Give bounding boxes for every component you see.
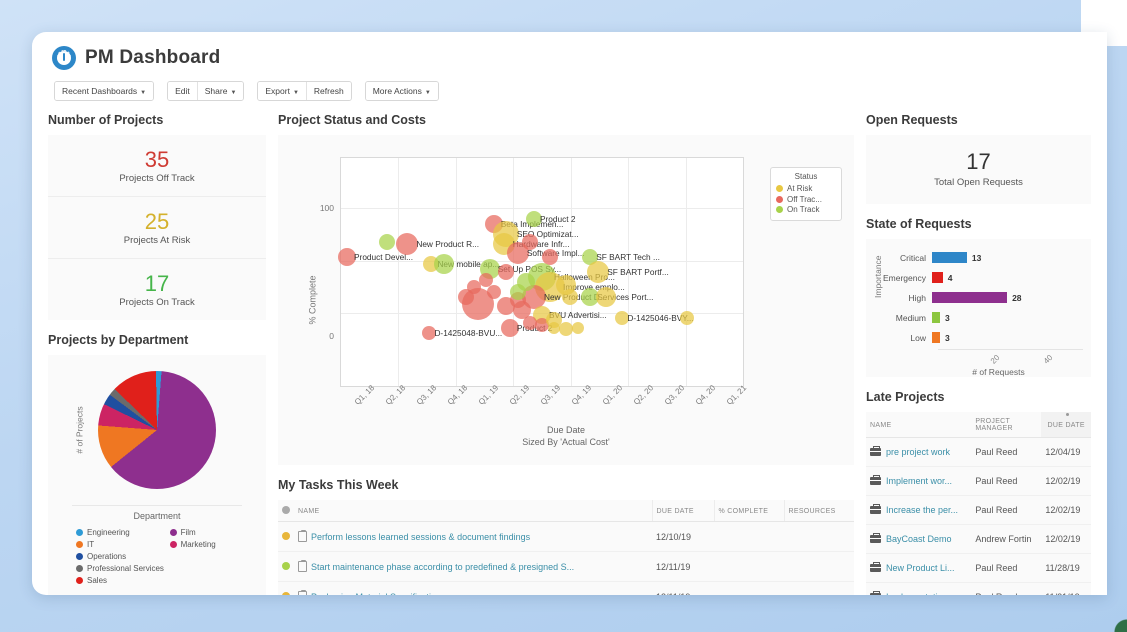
legend-color-dot [76,577,83,584]
legend-label: Operations [87,552,126,561]
recent-dashboards-button[interactable]: Recent Dashboards▼ [55,82,153,100]
scatter-bubble[interactable] [487,285,501,299]
dashboard-header: PM Dashboard Recent Dashboards▼ Edit Sha… [32,32,1107,101]
bar-fill[interactable] [932,292,1007,303]
projects-by-department-panel: Projects by Department # of Projects Dep… [48,333,266,595]
legend-label: Film [181,528,196,537]
chevron-down-icon: ▼ [230,90,236,96]
clipboard-icon [298,561,307,572]
project-manager-cell: Paul Reed [971,496,1041,525]
gauge-icon [52,46,76,70]
recent-dashboards-label: Recent Dashboards [62,86,137,96]
status-dot [282,532,290,540]
scatter-bubble[interactable] [680,311,694,325]
open-requests-label: Total Open Requests [866,177,1091,188]
project-status-costs-title: Project Status and Costs [278,113,854,127]
scatter-bubble-label: D-1425048-BVU... [434,328,502,338]
legend-label: Sales [87,576,107,585]
number-of-projects-panel: Number of Projects 35Projects Off Track2… [48,113,266,320]
project-due-date-cell: 12/02/19 [1041,496,1091,525]
share-button[interactable]: Share▼ [198,82,244,100]
bar-fill[interactable] [932,252,967,263]
sort-indicator-icon [1066,413,1069,416]
bar-row[interactable]: Critical13 [874,249,1083,266]
legend-color-dot [76,553,83,560]
bar-row[interactable]: Emergency4 [874,269,1083,286]
page-title: PM Dashboard [85,47,220,69]
late-projects-title: Late Projects [866,390,1091,404]
pie-legend-item[interactable]: Engineering [76,528,170,537]
project-name-link[interactable]: Implementation... [886,592,955,595]
scatter-x-axis-label: Due Date [278,425,854,435]
task-name-cell[interactable]: Start maintenance phase according to pre… [294,552,652,582]
scatter-plot-area[interactable]: Product Devel...New Product R...New mobi… [340,157,744,387]
project-due-date-cell: 12/02/19 [1041,467,1091,496]
kpi-item[interactable]: 25Projects At Risk [48,197,266,259]
scatter-bubble[interactable] [522,234,538,250]
kpi-label: Projects Off Track [48,173,266,184]
scatter-bubble[interactable] [498,264,514,280]
gridline-vertical [398,158,399,386]
bar-fill[interactable] [932,312,940,323]
open-requests-title: Open Requests [866,113,1091,127]
task-due-date-cell: 12/11/19 [652,552,714,582]
column-header[interactable]: RESOURCES [784,500,854,522]
bar-x-tick: 40 [1042,353,1055,366]
scatter-bubble[interactable] [379,234,395,250]
gridline-horizontal [341,208,743,209]
requests-bar-chart[interactable]: Importance Critical13Emergency4High28Med… [874,249,1083,369]
scatter-bubble[interactable] [458,289,474,305]
scatter-bubble[interactable] [396,233,418,255]
project-manager-cell: Paul Reed [971,438,1041,467]
project-manager-cell: Paul Reed [971,583,1041,596]
legend-color-dot [776,185,783,192]
bar-row[interactable]: Low3 [874,329,1083,346]
scatter-bubble[interactable] [546,312,562,328]
toolbar-group-export-refresh: Export▼ Refresh [257,81,351,101]
legend-color-dot [170,541,177,548]
table-row[interactable]: Increase the per...Paul Reed12/02/19 [866,496,1091,525]
open-requests-panel: Open Requests 17 Total Open Requests [866,113,1091,204]
status-dot [282,562,290,570]
kpi-item[interactable]: 17Projects On Track [48,259,266,320]
briefcase-icon [870,506,881,514]
task-name-cell[interactable]: Packaging Material Specifications [294,582,652,596]
column-header[interactable]: NAME [294,500,652,522]
scatter-y-tick: 100 [304,203,334,213]
scatter-bubble-label: New Product R... [416,239,479,249]
bar-fill[interactable] [932,332,940,343]
task-percent-complete-cell [714,522,784,552]
project-name-cell[interactable]: BayCoast Demo [866,525,971,554]
number-of-projects-title: Number of Projects [48,113,266,127]
my-tasks-table: NAMEDUE DATE% COMPLETERESOURCES Perform … [278,500,854,595]
my-tasks-panel: My Tasks This Week NAMEDUE DATE% COMPLET… [278,478,854,595]
scatter-chart[interactable]: % Complete 1000 Product Devel...New Prod… [278,135,854,465]
project-name-link[interactable]: New Product Li... [886,563,955,573]
table-row[interactable]: Packaging Material Specifications12/11/1… [278,582,854,596]
status-header-dot [282,506,290,514]
task-name-link[interactable]: Perform lessons learned sessions & docum… [311,532,530,542]
task-name-link[interactable]: Packaging Material Specifications [311,592,446,595]
project-name-cell[interactable]: Increase the per... [866,496,971,525]
bar-value-label: 3 [945,333,950,343]
status-legend-item[interactable]: On Track [776,205,836,214]
status-legend-title: Status [776,172,836,181]
requests-x-axis-label: # of Requests [914,367,1083,377]
task-name-cell[interactable]: Perform lessons learned sessions & docum… [294,522,652,552]
pie-legend-item[interactable]: Professional Services [76,564,256,573]
gridline-vertical [686,158,687,386]
open-requests-value: 17 [866,149,1091,175]
project-name-link[interactable]: BayCoast Demo [886,534,952,544]
project-name-link[interactable]: pre project work [886,447,950,457]
bar-x-tick: 20 [988,353,1001,366]
chevron-down-icon: ▼ [425,90,431,96]
legend-label: Engineering [87,528,130,537]
export-button[interactable]: Export▼ [258,82,307,100]
briefcase-icon [870,535,881,543]
scatter-bubble[interactable] [434,254,454,274]
scatter-bubble[interactable] [587,261,609,283]
column-header[interactable]: DUE DATE [652,500,714,522]
my-tasks-header-row: NAMEDUE DATE% COMPLETERESOURCES [278,500,854,522]
project-name-link[interactable]: Increase the per... [886,505,958,515]
table-row[interactable]: Start maintenance phase according to pre… [278,552,854,582]
status-dot [282,592,290,596]
scatter-bubble-label: SF BART Portf... [607,267,668,277]
bar-row[interactable]: High28 [874,289,1083,306]
scatter-y-axis-label: % Complete [308,275,318,324]
scatter-bubble[interactable] [559,322,573,336]
my-tasks-title: My Tasks This Week [278,478,854,492]
column-header[interactable]: PROJECT MANAGER [971,412,1041,438]
legend-label: Professional Services [87,564,164,573]
briefcase-icon [870,564,881,572]
more-actions-button[interactable]: More Actions▼ [366,82,438,100]
legend-color-dot [776,206,783,213]
requests-x-ticks: 2040 [938,349,1083,367]
clipboard-icon [298,591,307,595]
kpi-item[interactable]: 35Projects Off Track [48,135,266,197]
project-name-cell[interactable]: pre project work [866,438,971,467]
legend-label: At Risk [787,184,812,193]
legend-color-dot [76,529,83,536]
project-due-date-cell: 11/28/19 [1041,554,1091,583]
chevron-down-icon: ▼ [140,90,146,96]
legend-color-dot [76,565,83,572]
pie-legend-item[interactable]: Film [170,528,256,537]
task-resources-cell [784,522,854,552]
more-actions-label: More Actions [373,86,422,96]
toolbar-group-recent: Recent Dashboards▼ [54,81,154,101]
table-row[interactable]: pre project workPaul Reed12/04/19 [866,438,1091,467]
task-status-dot-cell [278,522,294,552]
toolbar: Recent Dashboards▼ Edit Share▼ Export▼ R… [54,81,1107,101]
projects-by-department-title: Projects by Department [48,333,266,347]
pie-y-axis-label: # of Projects [75,407,85,454]
kpi-list: 35Projects Off Track25Projects At Risk17… [48,135,266,320]
task-percent-complete-cell [714,582,784,596]
legend-color-dot [776,196,783,203]
kpi-value: 35 [48,148,266,171]
scatter-bubble-label: Product 2 [540,214,576,224]
briefcase-icon [870,593,881,595]
project-manager-cell: Andrew Fortin [971,525,1041,554]
bar-value-label: 4 [948,273,953,283]
legend-label: IT [87,540,94,549]
bar-value-label: 28 [1012,293,1021,303]
export-label: Export [265,86,290,96]
legend-label: Marketing [181,540,216,549]
column-header[interactable]: NAME [866,412,971,438]
table-row[interactable]: Implement wor...Paul Reed12/02/19 [866,467,1091,496]
table-row[interactable]: Perform lessons learned sessions & docum… [278,522,854,552]
status-legend: Status At RiskOff Trac...On Track [770,167,842,221]
project-name-cell[interactable]: Implement wor... [866,467,971,496]
edit-button[interactable]: Edit [168,82,198,100]
scatter-bubble[interactable] [510,284,526,300]
project-due-date-cell: 11/21/19 [1041,583,1091,596]
late-projects-panel: Late Projects NAMEPROJECT MANAGERDUE DAT… [866,390,1091,595]
task-due-date-cell: 12/10/19 [652,522,714,552]
column-header[interactable]: % COMPLETE [714,500,784,522]
kpi-label: Projects At Risk [48,235,266,246]
scatter-bubble[interactable] [572,322,584,334]
project-name-cell[interactable]: Implementation... [866,583,971,596]
table-row[interactable]: BayCoast DemoAndrew Fortin12/02/19 [866,525,1091,554]
column-header[interactable] [278,500,294,522]
scatter-size-note: Sized By 'Actual Cost' [278,437,854,447]
state-of-requests-panel: State of Requests Importance Critical13E… [866,217,1091,377]
briefcase-icon [870,477,881,485]
project-due-date-cell: 12/04/19 [1041,438,1091,467]
legend-color-dot [170,529,177,536]
task-status-dot-cell [278,582,294,596]
scatter-bubble-label: SF BART Tech ... [596,252,660,262]
task-percent-complete-cell [714,552,784,582]
column-header[interactable]: DUE DATE [1041,412,1091,438]
kpi-label: Projects On Track [48,297,266,308]
briefcase-icon [870,448,881,456]
task-due-date-cell: 12/11/19 [652,582,714,596]
department-pie-chart[interactable] [98,371,216,489]
legend-color-dot [76,541,83,548]
project-name-link[interactable]: Implement wor... [886,476,952,486]
task-status-dot-cell [278,552,294,582]
scatter-bubble[interactable] [479,273,493,287]
status-legend-item[interactable]: At Risk [776,184,836,193]
background-corner-bottom-right [1087,592,1127,632]
late-projects-table: NAMEPROJECT MANAGERDUE DATE pre project … [866,412,1091,595]
bar-value-label: 3 [945,313,950,323]
bar-value-label: 13 [972,253,981,263]
project-due-date-cell: 12/02/19 [1041,525,1091,554]
toolbar-group-edit-share: Edit Share▼ [167,81,244,101]
project-status-costs-panel: Project Status and Costs % Complete 1000… [278,113,854,465]
scatter-bubble[interactable] [562,289,578,305]
clipboard-icon [298,531,307,542]
project-name-cell[interactable]: New Product Li... [866,554,971,583]
task-resources-cell [784,582,854,596]
table-row[interactable]: New Product Li...Paul Reed11/28/19 [866,554,1091,583]
bar-category-label: Low [874,333,932,343]
project-manager-cell: Paul Reed [971,554,1041,583]
state-of-requests-title: State of Requests [866,217,1091,231]
bar-category-label: Medium [874,313,932,323]
share-label: Share [205,86,228,96]
chevron-down-icon: ▼ [293,90,299,96]
scatter-y-tick: 0 [304,331,334,341]
status-legend-item[interactable]: Off Trac... [776,195,836,204]
task-name-link[interactable]: Start maintenance phase according to pre… [311,562,574,572]
requests-y-axis-label: Importance [873,255,883,298]
pie-legend-item[interactable]: Operations [76,552,170,561]
refresh-button[interactable]: Refresh [307,82,351,100]
legend-label: On Track [787,205,819,214]
pie-legend: EngineeringFilmITMarketingOperationsProf… [48,521,266,595]
kpi-value: 17 [48,272,266,295]
dashboard-card: PM Dashboard Recent Dashboards▼ Edit Sha… [32,32,1107,595]
legend-label: Off Trac... [787,195,822,204]
bar-row[interactable]: Medium3 [874,309,1083,326]
pie-legend-item[interactable]: Sales [76,576,170,585]
project-manager-cell: Paul Reed [971,467,1041,496]
task-resources-cell [784,552,854,582]
pie-x-axis-label: Department [72,505,242,521]
scatter-bubble[interactable] [596,287,616,307]
table-row[interactable]: Implementation...Paul Reed11/21/19 [866,583,1091,596]
kpi-value: 25 [48,210,266,233]
late-projects-header-row: NAMEPROJECT MANAGERDUE DATE [866,412,1091,438]
toolbar-group-more: More Actions▼ [365,81,439,101]
pie-legend-item[interactable]: IT [76,540,170,549]
bar-fill[interactable] [932,272,943,283]
pie-legend-item[interactable]: Marketing [170,540,256,549]
gridline-vertical [456,158,457,386]
